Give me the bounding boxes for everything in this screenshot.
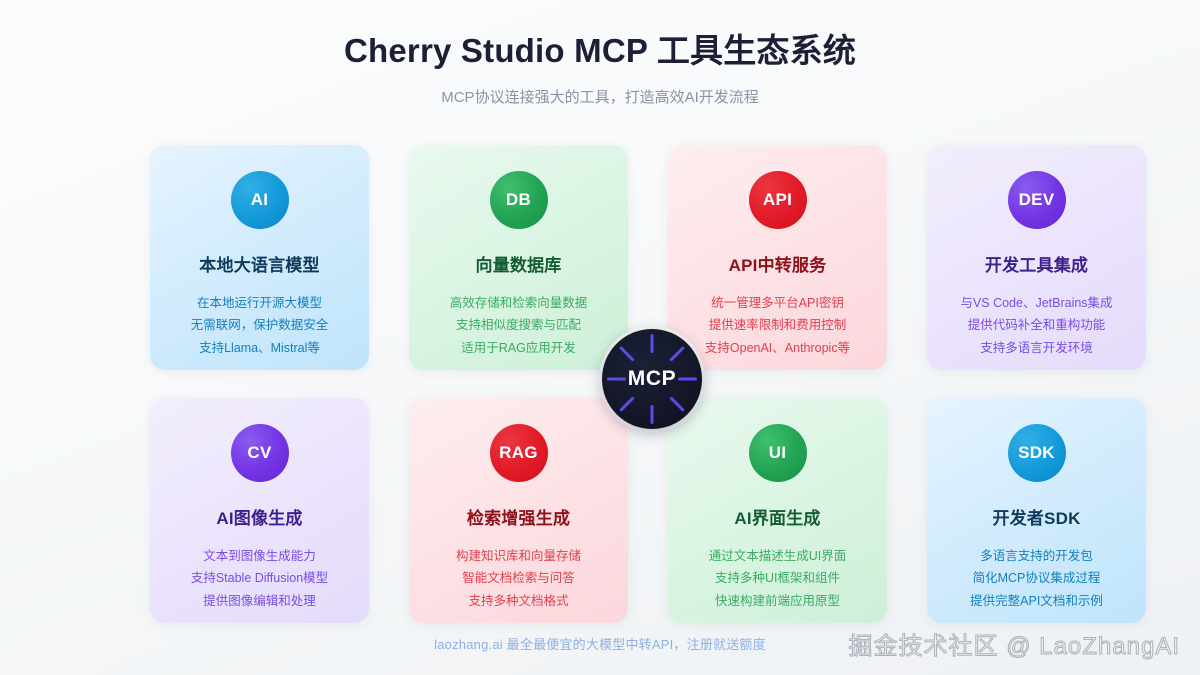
watermark: 掘金技术社区 @ LaoZhangAI: [849, 626, 1180, 661]
tool-card[interactable]: UIAI界面生成通过文本描述生成UI界面支持多种UI框架和组件快速构建前端应用原…: [668, 398, 887, 623]
tool-card-description: 文本到图像生成能力支持Stable Diffusion模型提供图像编辑和处理: [150, 545, 369, 612]
tool-badge-icon: CV: [231, 424, 289, 482]
tool-badge-icon: UI: [749, 424, 807, 482]
tool-card-description-line: 智能文档检索与问答: [419, 567, 618, 589]
tool-card-description: 构建知识库和向量存储智能文档检索与问答支持多种文档格式: [409, 545, 628, 612]
tool-card[interactable]: DB向量数据库高效存储和检索向量数据支持相似度搜索与匹配适用于RAG应用开发: [409, 145, 628, 370]
tool-card-description-line: 文本到图像生成能力: [160, 545, 359, 567]
hub-spoke-icon: [619, 346, 635, 362]
tool-card-title: 开发工具集成: [927, 251, 1146, 276]
tool-card-title: 本地大语言模型: [150, 251, 369, 276]
tool-badge-icon: RAG: [490, 424, 548, 482]
hub-spoke-icon: [651, 405, 654, 424]
tool-card-description: 与VS Code、JetBrains集成提供代码补全和重构功能支持多语言开发环境: [927, 292, 1146, 359]
tool-card-description: 通过文本描述生成UI界面支持多种UI框架和组件快速构建前端应用原型: [668, 545, 887, 612]
tool-card-description: 高效存储和检索向量数据支持相似度搜索与匹配适用于RAG应用开发: [409, 292, 628, 359]
page-subtitle: MCP协议连接强大的工具，打造高效AI开发流程: [0, 86, 1200, 107]
page-header: Cherry Studio MCP 工具生态系统 MCP协议连接强大的工具，打造…: [0, 0, 1200, 107]
tool-card-description-line: 在本地运行开源大模型: [160, 292, 359, 314]
tool-card-description-line: 通过文本描述生成UI界面: [678, 545, 877, 567]
tool-card-description-line: 构建知识库和向量存储: [419, 545, 618, 567]
tool-card-description: 在本地运行开源大模型无需联网，保护数据安全支持Llama、Mistral等: [150, 292, 369, 359]
tool-card[interactable]: RAG检索增强生成构建知识库和向量存储智能文档检索与问答支持多种文档格式: [409, 398, 628, 623]
tool-card-title: AI界面生成: [668, 504, 887, 529]
tool-card-title: AI图像生成: [150, 504, 369, 529]
tool-card[interactable]: DEV开发工具集成与VS Code、JetBrains集成提供代码补全和重构功能…: [927, 145, 1146, 370]
tool-card-description-line: 支持相似度搜索与匹配: [419, 314, 618, 336]
tool-card-description-line: 无需联网，保护数据安全: [160, 314, 359, 336]
tool-card-description-line: 与VS Code、JetBrains集成: [937, 292, 1136, 314]
mcp-hub[interactable]: MCP: [602, 329, 702, 429]
hub-spoke-icon: [607, 378, 626, 381]
tool-badge-icon: API: [749, 171, 807, 229]
tool-card-description-line: 提供完整API文档和示例: [937, 590, 1136, 612]
tool-card-description-line: 支持OpenAI、Anthropic等: [678, 337, 877, 359]
hub-spoke-icon: [669, 396, 685, 412]
tool-card[interactable]: AI本地大语言模型在本地运行开源大模型无需联网，保护数据安全支持Llama、Mi…: [150, 145, 369, 370]
tool-card-description-line: 支持多种UI框架和组件: [678, 567, 877, 589]
tool-card-description-line: 提供代码补全和重构功能: [937, 314, 1136, 336]
hub-spoke-icon: [651, 334, 654, 353]
hub-label: MCP: [628, 367, 676, 391]
tool-card-description-line: 简化MCP协议集成过程: [937, 567, 1136, 589]
tool-card-description-line: 支持多语言开发环境: [937, 337, 1136, 359]
tool-badge-icon: SDK: [1008, 424, 1066, 482]
tool-card-description-line: 提供图像编辑和处理: [160, 590, 359, 612]
tool-card-title: 检索增强生成: [409, 504, 628, 529]
tool-card-title: 开发者SDK: [927, 504, 1146, 529]
hub-spoke-icon: [619, 396, 635, 412]
hub-spoke-icon: [669, 346, 685, 362]
tool-card[interactable]: SDK开发者SDK多语言支持的开发包简化MCP协议集成过程提供完整API文档和示…: [927, 398, 1146, 623]
tool-card-description-line: 支持Stable Diffusion模型: [160, 567, 359, 589]
tool-badge-icon: AI: [231, 171, 289, 229]
tool-card-description-line: 统一管理多平台API密钥: [678, 292, 877, 314]
tool-card-description-line: 快速构建前端应用原型: [678, 590, 877, 612]
tool-card-title: 向量数据库: [409, 251, 628, 276]
tool-card[interactable]: CVAI图像生成文本到图像生成能力支持Stable Diffusion模型提供图…: [150, 398, 369, 623]
tool-card-description-line: 提供速率限制和费用控制: [678, 314, 877, 336]
tool-badge-icon: DEV: [1008, 171, 1066, 229]
tool-card-description-line: 高效存储和检索向量数据: [419, 292, 618, 314]
tool-card-description: 多语言支持的开发包简化MCP协议集成过程提供完整API文档和示例: [927, 545, 1146, 612]
tool-badge-icon: DB: [490, 171, 548, 229]
tool-card-description-line: 适用于RAG应用开发: [419, 337, 618, 359]
tool-card-description-line: 支持多种文档格式: [419, 590, 618, 612]
tool-card-title: API中转服务: [668, 251, 887, 276]
tool-card-description-line: 多语言支持的开发包: [937, 545, 1136, 567]
page-title: Cherry Studio MCP 工具生态系统: [0, 30, 1200, 71]
tool-card-description-line: 支持Llama、Mistral等: [160, 337, 359, 359]
hub-spoke-icon: [678, 378, 697, 381]
